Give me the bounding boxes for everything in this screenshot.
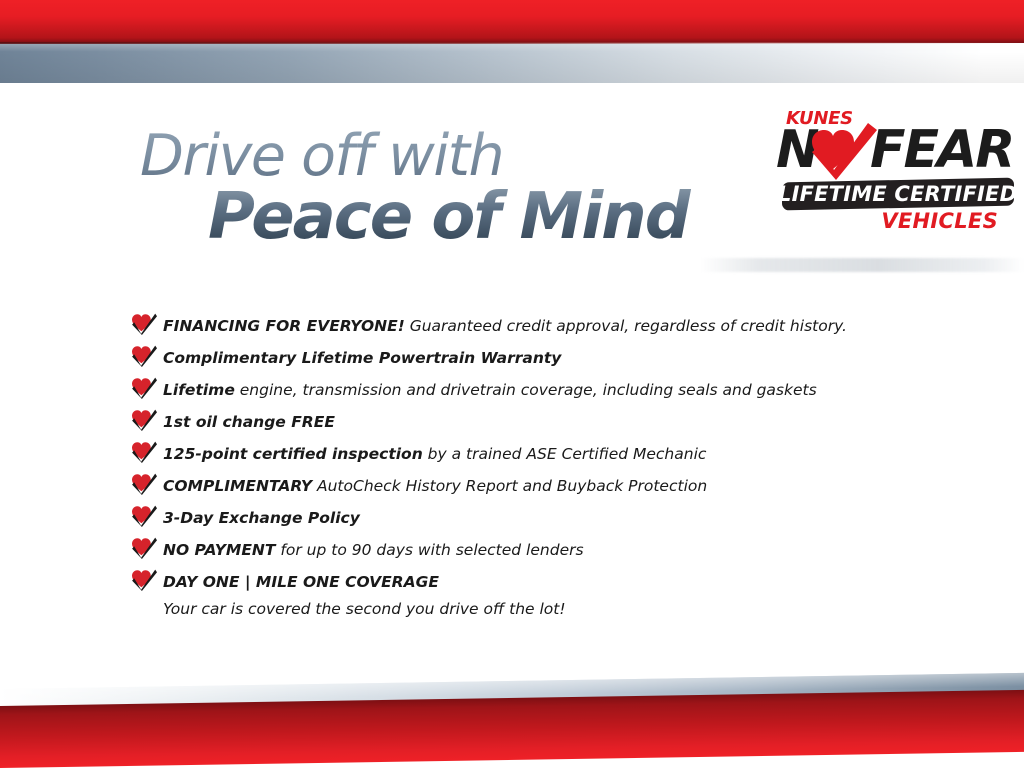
list-item-text: Complimentary Lifetime Powertrain Warran… — [163, 342, 931, 374]
list-item: 1st oil change FREE — [131, 406, 931, 438]
list-item: 3-Day Exchange Policy — [131, 502, 931, 534]
list-item-bold: Lifetime — [163, 381, 235, 399]
list-item-bold: FINANCING FOR EVERYONE! — [163, 317, 405, 335]
list-item-text: 1st oil change FREE — [163, 406, 931, 438]
list-item: NO PAYMENT for up to 90 days with select… — [131, 534, 931, 566]
list-item-bold: COMPLIMENTARY — [163, 477, 312, 495]
list-item-text: 125-point certified inspection by a trai… — [163, 438, 931, 470]
list-item-rest: for up to 90 days with selected lenders — [275, 541, 583, 559]
top-gray-gradient-bar — [0, 43, 1024, 83]
list-item-rest: engine, transmission and drivetrain cove… — [235, 381, 817, 399]
top-divider-hairline — [0, 42, 1024, 44]
section-divider — [700, 258, 1024, 272]
list-item: Complimentary Lifetime Powertrain Warran… — [131, 342, 931, 374]
list-item: DAY ONE | MILE ONE COVERAGE Your car is … — [131, 566, 931, 621]
list-item-bold: Complimentary Lifetime Powertrain Warran… — [163, 349, 561, 367]
logo-vehicles-text: VEHICLES — [881, 209, 998, 233]
list-item-bold: 125-point certified inspection — [163, 445, 423, 463]
list-item-text: NO PAYMENT for up to 90 days with select… — [163, 534, 931, 566]
list-item: 125-point certified inspection by a trai… — [131, 438, 931, 470]
list-item: COMPLIMENTARY AutoCheck History Report a… — [131, 470, 931, 502]
list-item-bold: DAY ONE | MILE ONE COVERAGE — [163, 573, 439, 591]
kunes-no-fear-logo: KUNES N FEAR LIFETIME CERTIFIED VEHICLES — [776, 108, 1014, 240]
heart-check-icon — [131, 505, 157, 527]
heart-check-icon — [131, 313, 157, 335]
heart-check-icon — [808, 122, 878, 180]
heart-check-icon — [131, 409, 157, 431]
list-item: FINANCING FOR EVERYONE! Guaranteed credi… — [131, 310, 931, 342]
list-item-bold: 1st oil change FREE — [163, 413, 335, 431]
list-item-text: COMPLIMENTARY AutoCheck History Report a… — [163, 470, 931, 502]
list-item-text: 3-Day Exchange Policy — [163, 502, 931, 534]
list-item-text: Lifetime engine, transmission and drivet… — [163, 374, 931, 406]
list-item-text: DAY ONE | MILE ONE COVERAGE — [163, 566, 931, 598]
headline-block: Drive off with Peace of Mind — [140, 126, 760, 252]
logo-certified-text: LIFETIME CERTIFIED — [778, 182, 1017, 206]
logo-certified-bar: LIFETIME CERTIFIED — [782, 178, 1014, 211]
list-item-rest: by a trained ASE Certified Mechanic — [423, 445, 707, 463]
logo-word-fear: FEAR — [870, 124, 1013, 176]
headline-line-1: Drive off with — [140, 126, 760, 186]
heart-check-icon — [131, 537, 157, 559]
heart-check-icon — [131, 377, 157, 399]
heart-check-icon — [131, 473, 157, 495]
list-item-bold: 3-Day Exchange Policy — [163, 509, 360, 527]
list-item-rest: AutoCheck History Report and Buyback Pro… — [312, 477, 707, 495]
promo-slide: Drive off with Peace of Mind KUNES N FEA… — [0, 0, 1024, 768]
list-item: Lifetime engine, transmission and drivet… — [131, 374, 931, 406]
heart-check-icon — [131, 345, 157, 367]
benefits-list: FINANCING FOR EVERYONE! Guaranteed credi… — [131, 310, 931, 621]
list-item-text: FINANCING FOR EVERYONE! Guaranteed credi… — [163, 310, 931, 342]
logo-wordmark: N FEAR — [776, 124, 1014, 176]
list-item-subtext: Your car is covered the second you drive… — [163, 598, 931, 621]
list-item-bold: NO PAYMENT — [163, 541, 275, 559]
headline-line-2: Peace of Mind — [208, 182, 760, 252]
heart-check-icon — [131, 569, 157, 591]
list-item-rest: Guaranteed credit approval, regardless o… — [405, 317, 847, 335]
top-red-bar — [0, 0, 1024, 43]
heart-check-icon — [131, 441, 157, 463]
